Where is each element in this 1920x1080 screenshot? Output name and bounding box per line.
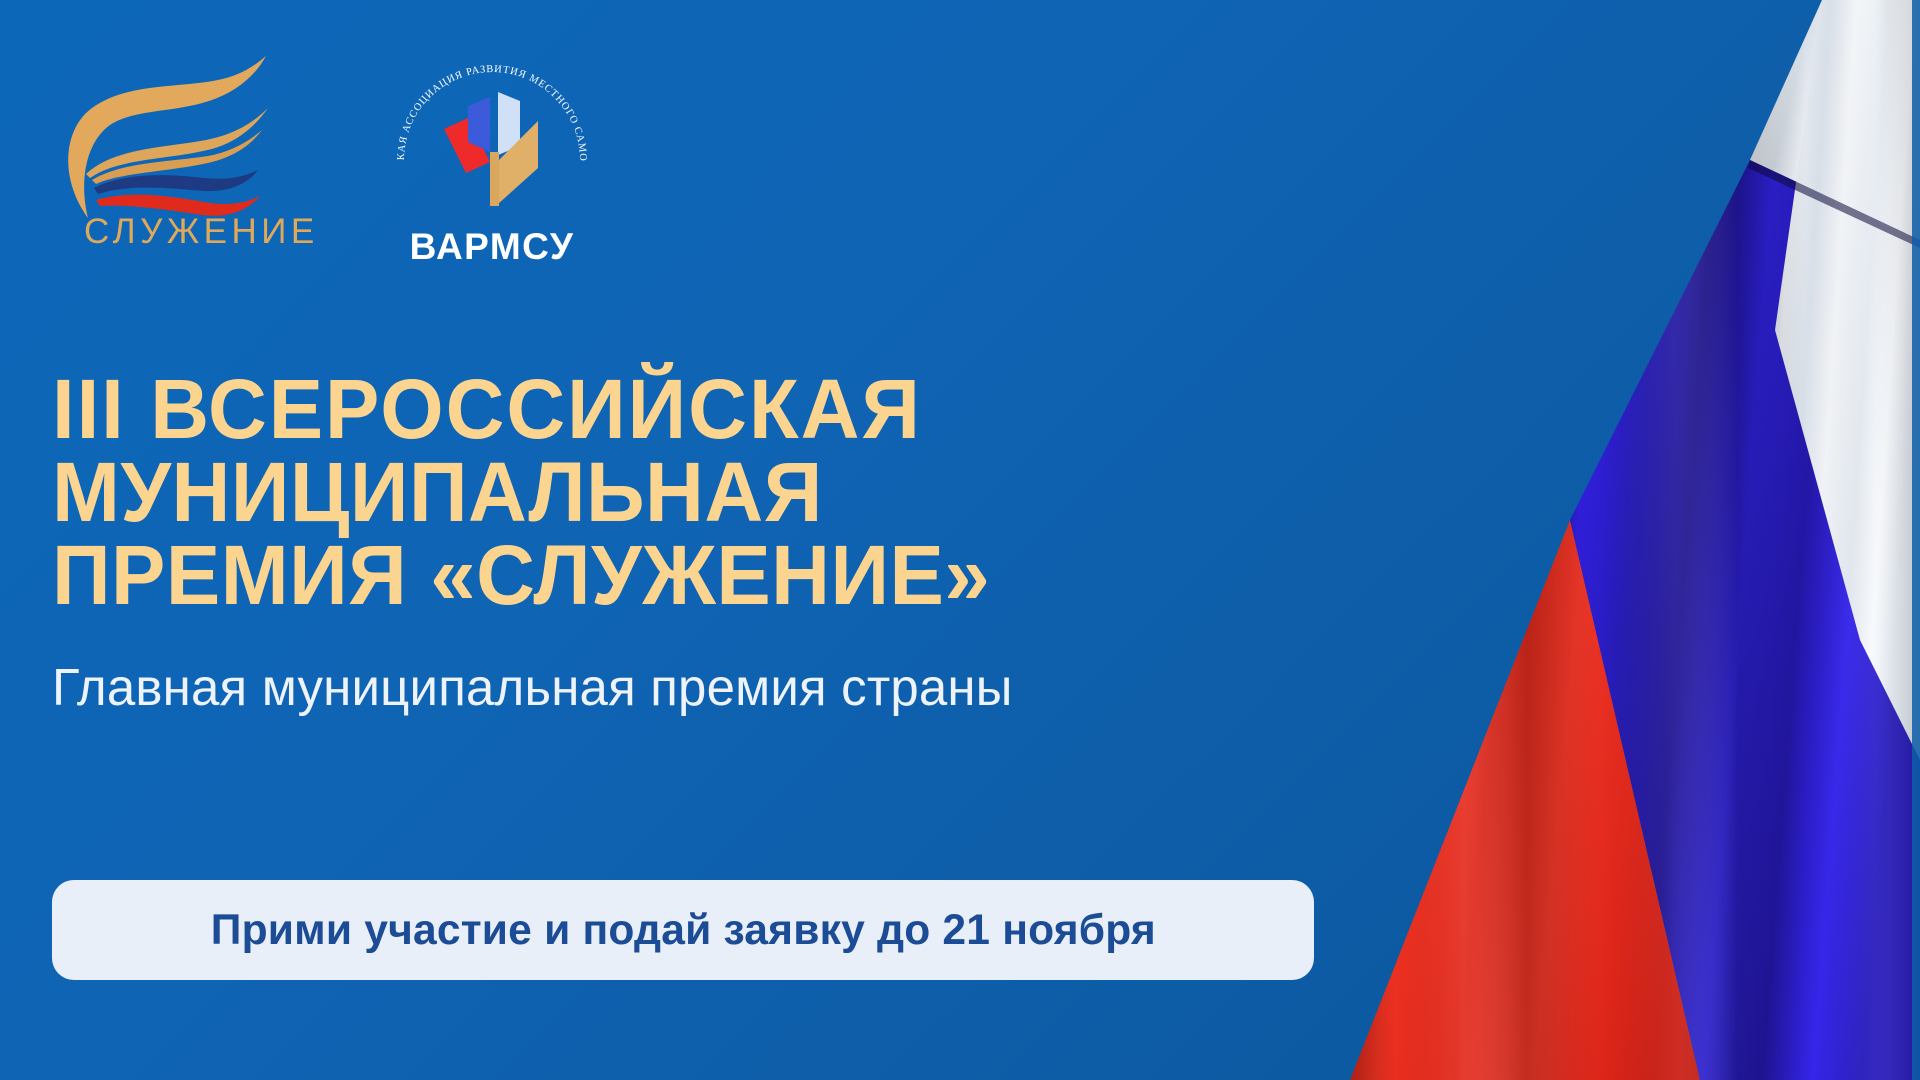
logo-row: СЛУЖЕНИЕ ВСЕРОССИЙСКАЯ АССОЦИАЦИЯ РАЗВИТ… <box>52 52 598 274</box>
subtitle: Главная муниципальная премия страны <box>52 661 1257 716</box>
headline-line-1: III ВСЕРОССИЙСКАЯ <box>52 368 1245 451</box>
page-title: III ВСЕРОССИЙСКАЯ МУНИЦИПАЛЬНАЯ ПРЕМИЯ «… <box>52 368 1245 617</box>
varmsu-emblem-icon: ВСЕРОССИЙСКАЯ АССОЦИАЦИЯ РАЗВИТИЯ МЕСТНО… <box>386 56 598 234</box>
headline-line-2: МУНИЦИПАЛЬНАЯ <box>52 451 1245 534</box>
flag-fold-shading <box>1350 0 1920 1080</box>
text-content: III ВСЕРОССИЙСКАЯ МУНИЦИПАЛЬНАЯ ПРЕМИЯ «… <box>52 368 1282 716</box>
varmsu-abbreviation: ВАРМСУ <box>386 226 598 268</box>
flag-right-edge-sliver <box>1912 0 1920 1080</box>
flag-svg <box>1320 0 1920 1080</box>
promo-banner: СЛУЖЕНИЕ ВСЕРОССИЙСКАЯ АССОЦИАЦИЯ РАЗВИТ… <box>0 0 1920 1080</box>
sluzhenie-wordmark: СЛУЖЕНИЕ <box>84 212 319 252</box>
sluzhenie-logo[interactable]: СЛУЖЕНИЕ <box>52 52 302 270</box>
russian-flag-graphic <box>1320 0 1920 1080</box>
sluzhenie-swoosh-icon <box>52 52 302 222</box>
cta-label: Прими участие и подай заявку до 21 ноябр… <box>210 906 1155 955</box>
headline-line-3: ПРЕМИЯ «СЛУЖЕНИЕ» <box>52 534 1245 617</box>
varmsu-logo[interactable]: ВСЕРОССИЙСКАЯ АССОЦИАЦИЯ РАЗВИТИЯ МЕСТНО… <box>386 56 598 274</box>
emblem-stem <box>490 152 499 206</box>
cta-button[interactable]: Прими участие и подай заявку до 21 ноябр… <box>52 880 1314 980</box>
